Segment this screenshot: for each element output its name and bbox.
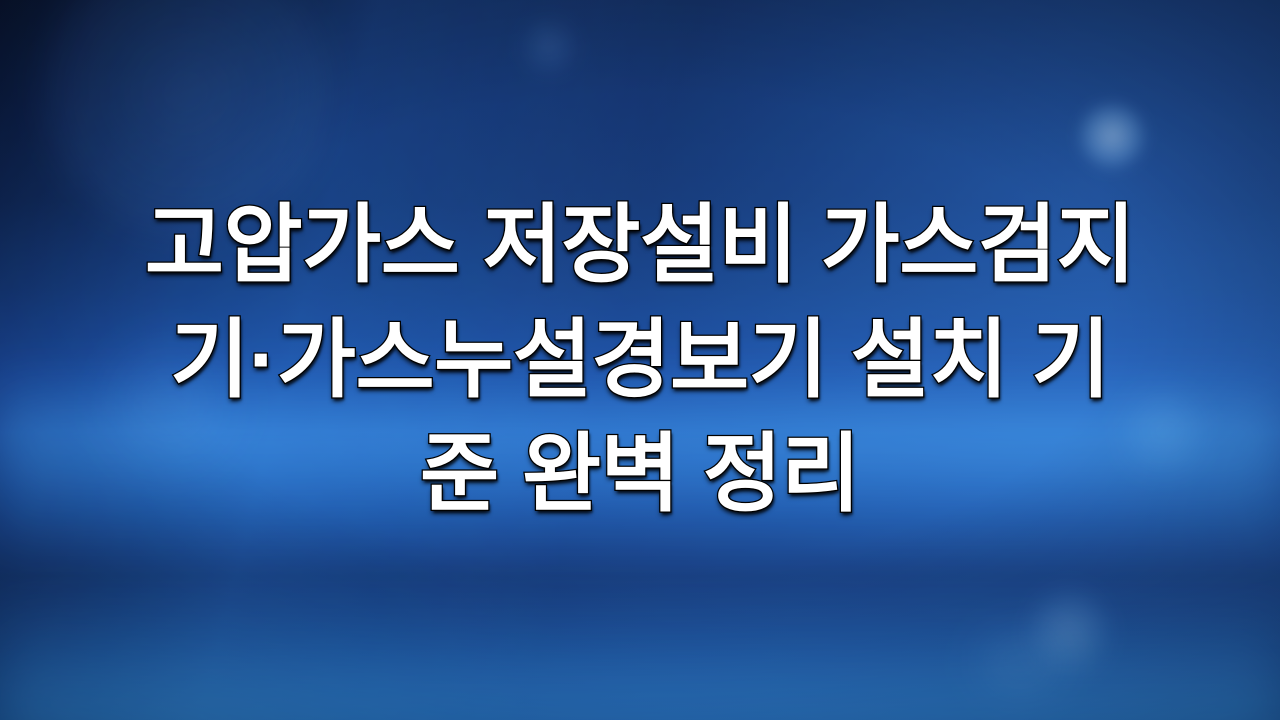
thumbnail-canvas: 고압가스 저장설비 가스검지 기·가스누설경보기 설치 기 준 완벽 정리 (0, 0, 1280, 720)
title-line-1: 고압가스 저장설비 가스검지 (26, 188, 1254, 302)
title-line-3: 준 완벽 정리 (26, 417, 1254, 531)
title-overlay: 고압가스 저장설비 가스검지 기·가스누설경보기 설치 기 준 완벽 정리 (0, 0, 1280, 720)
title-line-2: 기·가스누설경보기 설치 기 (26, 303, 1254, 417)
